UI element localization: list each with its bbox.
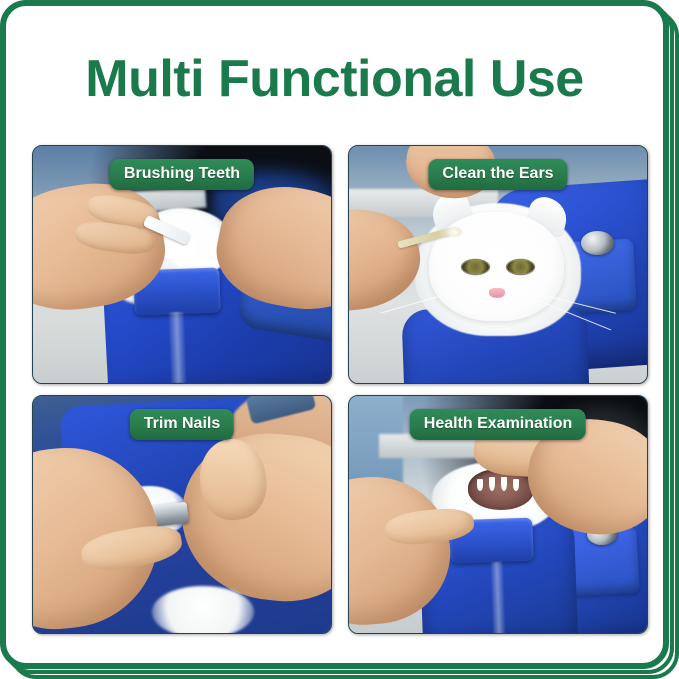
- panel-label-health-examination: Health Examination: [410, 409, 586, 440]
- panel-clean-the-ears[interactable]: Clean the Ears: [348, 145, 648, 384]
- panel-label-clean-the-ears: Clean the Ears: [428, 159, 567, 190]
- poster-root: Multi Functional Use Brushing Teeth: [0, 0, 679, 679]
- scene-cat-eye-left: [462, 260, 489, 274]
- scene-cat-tooth: [501, 477, 507, 491]
- panel-label-trim-nails: Trim Nails: [130, 409, 234, 440]
- scene-cat-fur-lower: [152, 586, 253, 633]
- scene-bag-grommet: [581, 231, 614, 255]
- scene-bag-zipper: [169, 312, 186, 383]
- scene-cat-eye-right: [507, 260, 534, 274]
- page-title: Multi Functional Use: [0, 48, 669, 110]
- scene-cat-nose: [489, 288, 505, 297]
- scene-cat-tooth: [513, 479, 519, 491]
- scene-cat-tooth: [477, 479, 483, 491]
- panel-label-brushing-teeth: Brushing Teeth: [110, 159, 254, 190]
- panel-brushing-teeth[interactable]: Brushing Teeth: [32, 145, 332, 384]
- panel-trim-nails[interactable]: Trim Nails: [32, 395, 332, 634]
- scene-cat-tooth: [489, 477, 495, 491]
- feature-grid: Brushing Teeth: [32, 145, 648, 634]
- panel-health-examination[interactable]: Health Examination: [348, 395, 648, 634]
